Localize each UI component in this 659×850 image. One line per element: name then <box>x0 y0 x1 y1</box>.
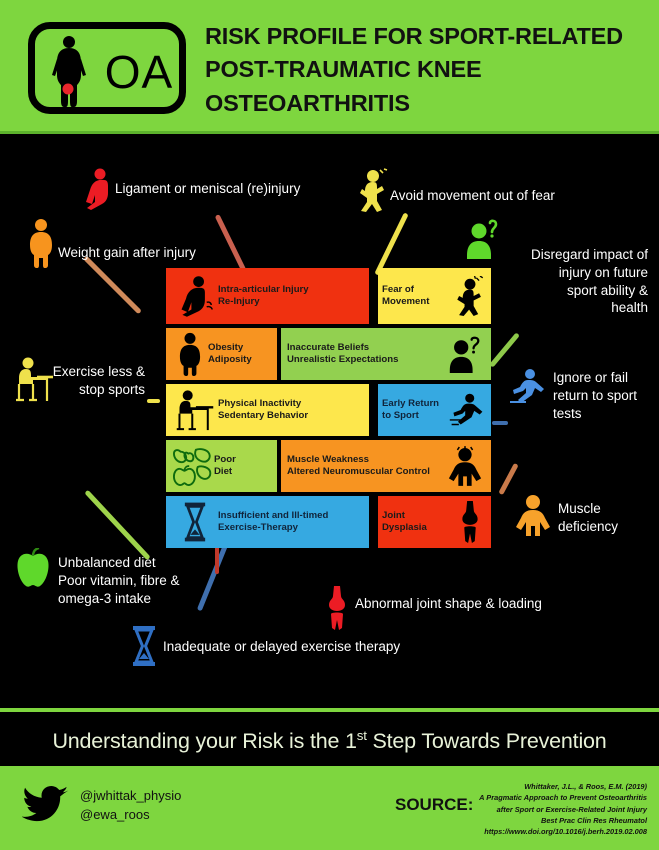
title-line-3: OSTEOARTHRITIS <box>205 87 650 120</box>
risk-block-text: Insufficient and Ill-timed Exercise-Ther… <box>218 510 363 535</box>
risk-line: Sedentary Behavior <box>218 410 308 421</box>
risk-block-text: Fear of Movement <box>382 284 453 309</box>
risk-line: Poor <box>214 454 236 465</box>
ignore-rts-tests-icon <box>508 368 548 406</box>
annotation-line: Avoid movement out of fear <box>390 187 630 205</box>
connector-line-exercise-less <box>147 399 160 403</box>
annotation-line: Exercise less & <box>0 363 145 381</box>
citation-line[interactable]: https://www.doi.org/10.1016/j.berh.2019.… <box>432 826 647 837</box>
citation-line: Best Prac Clin Res Rheumatol <box>432 815 647 826</box>
connector-line-disregard <box>489 332 520 367</box>
annotation-line: Ligament or meniscal (re)injury <box>115 180 345 198</box>
connector-line-reinjury <box>215 214 247 272</box>
risk-block-obesity-adiposity[interactable]: Obesity Adiposity <box>166 328 277 380</box>
risk-block-text: Muscle Weakness Altered Neuromuscular Co… <box>287 454 445 479</box>
risk-block-text: Intra-articular Injury Re-Injury <box>218 284 363 309</box>
twitter-handle[interactable]: @jwhittak_physio <box>80 787 181 806</box>
prevention-banner: Understanding your Risk is the 1st Step … <box>0 708 659 770</box>
hourglass-icon <box>172 502 218 542</box>
annotation-line: Ignore or fail <box>553 369 658 387</box>
risk-line: to Sport <box>382 410 419 421</box>
knee-joint-icon <box>453 501 487 543</box>
risk-line: Adiposity <box>208 354 252 365</box>
ignore-rts-tests-label: Ignore or fail return to sport tests <box>553 369 658 422</box>
title-line-1: RISK PROFILE FOR SPORT-RELATED <box>205 20 650 53</box>
risk-block-muscle-weakness[interactable]: Muscle Weakness Altered Neuromuscular Co… <box>281 440 491 492</box>
risk-line: Altered Neuromuscular Control <box>287 466 430 477</box>
risk-line: Obesity <box>208 342 243 353</box>
connector-line-unbalanced-diet <box>84 490 150 561</box>
risk-block-inaccurate-beliefs[interactable]: Inaccurate Beliefs Unrealistic Expectati… <box>281 328 491 380</box>
risk-line: Muscle Weakness <box>287 454 369 465</box>
risk-block-text: Obesity Adiposity <box>208 342 271 367</box>
weight-gain-icon <box>26 218 56 268</box>
citation-line: Whittaker, J.L., & Roos, E.M. (2019) <box>432 781 647 792</box>
risk-block-joint-dysplasia[interactable]: Joint Dysplasia <box>378 496 491 548</box>
annotation-line: Muscle <box>558 500 658 518</box>
weak-muscle-person-icon <box>445 446 485 486</box>
running-hurdler-icon <box>447 392 487 428</box>
citation-line: A Pragmatic Approach to Prevent Osteoart… <box>432 792 647 803</box>
risk-block-text: Early Return to Sport <box>382 398 447 423</box>
banner-superscript: st <box>357 728 367 743</box>
banner-text-after: Step Towards Prevention <box>367 729 607 753</box>
diagram-body: Ligament or meniscal (re)injury Avoid mo… <box>0 134 659 708</box>
risk-line: Inaccurate Beliefs <box>287 342 369 353</box>
startled-person-icon <box>453 276 487 316</box>
kneeling-injured-person-icon <box>172 275 218 317</box>
connector-line-weight-gain <box>83 256 142 315</box>
body-knee-pain-icon <box>49 35 89 109</box>
connector-line-muscle-deficiency <box>498 463 518 495</box>
page-title: RISK PROFILE FOR SPORT-RELATED POST-TRAU… <box>205 20 650 120</box>
twitter-handles: @jwhittak_physio @ewa_roos <box>80 787 181 825</box>
abnormal-joint-icon <box>325 586 349 630</box>
risk-block-poor-diet[interactable]: Poor Diet <box>166 440 277 492</box>
person-sitting-at-desk-icon <box>172 389 218 431</box>
muscle-deficiency-icon <box>514 494 552 536</box>
risk-line: Intra-articular Injury <box>218 284 309 295</box>
connector-line-ignore-tests <box>492 421 508 425</box>
annotation-line: stop sports <box>0 381 145 399</box>
risk-line: Insufficient and Ill-timed <box>218 510 328 521</box>
risk-block-early-return-to-sport[interactable]: Early Return to Sport <box>378 384 491 436</box>
prevention-banner-text: Understanding your Risk is the 1st Step … <box>52 728 606 754</box>
exercise-less-label: Exercise less & stop sports <box>0 363 145 399</box>
annotation-line: Disregard impact of <box>400 246 648 264</box>
risk-line: Joint <box>382 510 405 521</box>
title-line-2: POST-TRAUMATIC KNEE <box>205 53 650 86</box>
annotation-line: Unbalanced diet <box>58 554 308 572</box>
citation-block: Whittaker, J.L., & Roos, E.M. (2019) A P… <box>432 781 647 837</box>
banner-text-before: Understanding your Risk is the 1 <box>52 729 356 753</box>
annotation-line: Inadequate or delayed exercise therapy <box>163 638 483 656</box>
risk-line: Unrealistic Expectations <box>287 354 398 365</box>
risk-line: Early Return <box>382 398 439 409</box>
avoid-movement-label: Avoid movement out of fear <box>390 187 630 205</box>
annotation-line: Weight gain after injury <box>58 244 288 262</box>
annotation-line: Abnormal joint shape & loading <box>355 595 645 613</box>
risk-line: Dysplasia <box>382 522 427 533</box>
unbalanced-diet-label: Unbalanced diet Poor vitamin, fibre & om… <box>58 554 308 607</box>
twitter-bird-icon[interactable] <box>22 785 70 825</box>
annotation-line: omega-3 intake <box>58 590 308 608</box>
risk-line: Diet <box>214 466 232 477</box>
avoid-movement-icon <box>358 168 388 212</box>
annotation-line: tests <box>553 405 658 423</box>
annotation-line: Poor vitamin, fibre & <box>58 572 308 590</box>
risk-line: Fear of <box>382 284 414 295</box>
ligament-reinjury-icon <box>82 168 112 210</box>
fruit-vegetables-icon <box>172 446 214 486</box>
twitter-handle[interactable]: @ewa_roos <box>80 806 181 825</box>
person-question-mark-icon <box>445 335 485 373</box>
muscle-deficiency-label: Muscle deficiency <box>558 500 658 536</box>
unbalanced-diet-icon <box>14 548 52 588</box>
risk-block-intra-articular-injury[interactable]: Intra-articular Injury Re-Injury <box>166 268 369 324</box>
citation-line: after Sport or Exercise-Related Joint In… <box>432 804 647 815</box>
header-banner: OA RISK PROFILE FOR SPORT-RELATED POST-T… <box>0 0 659 134</box>
inadequate-therapy-label: Inadequate or delayed exercise therapy <box>163 638 483 656</box>
risk-block-text: Inaccurate Beliefs Unrealistic Expectati… <box>287 342 445 367</box>
annotation-line: deficiency <box>558 518 658 536</box>
inadequate-therapy-icon <box>131 626 157 666</box>
risk-line: Movement <box>382 296 429 307</box>
weight-gain-label: Weight gain after injury <box>58 244 288 262</box>
ligament-reinjury-label: Ligament or meniscal (re)injury <box>115 180 345 198</box>
risk-block-text: Joint Dysplasia <box>382 510 453 535</box>
risk-line: Physical Inactivity <box>218 398 301 409</box>
oa-logo-text: OA <box>93 35 185 109</box>
overweight-person-icon <box>172 332 208 376</box>
risk-block-text: Poor Diet <box>214 454 271 479</box>
abnormal-joint-label: Abnormal joint shape & loading <box>355 595 645 613</box>
risk-line: Re-Injury <box>218 296 260 307</box>
risk-block-physical-inactivity[interactable]: Physical Inactivity Sedentary Behavior <box>166 384 369 436</box>
oa-logo: OA <box>28 22 186 114</box>
annotation-line: return to sport <box>553 387 658 405</box>
infographic-page: OA RISK PROFILE FOR SPORT-RELATED POST-T… <box>0 0 659 850</box>
risk-block-text: Physical Inactivity Sedentary Behavior <box>218 398 363 423</box>
risk-block-fear-of-movement[interactable]: Fear of Movement <box>378 268 491 324</box>
risk-line: Exercise-Therapy <box>218 522 298 533</box>
risk-block-insufficient-exercise-therapy[interactable]: Insufficient and Ill-timed Exercise-Ther… <box>166 496 369 548</box>
